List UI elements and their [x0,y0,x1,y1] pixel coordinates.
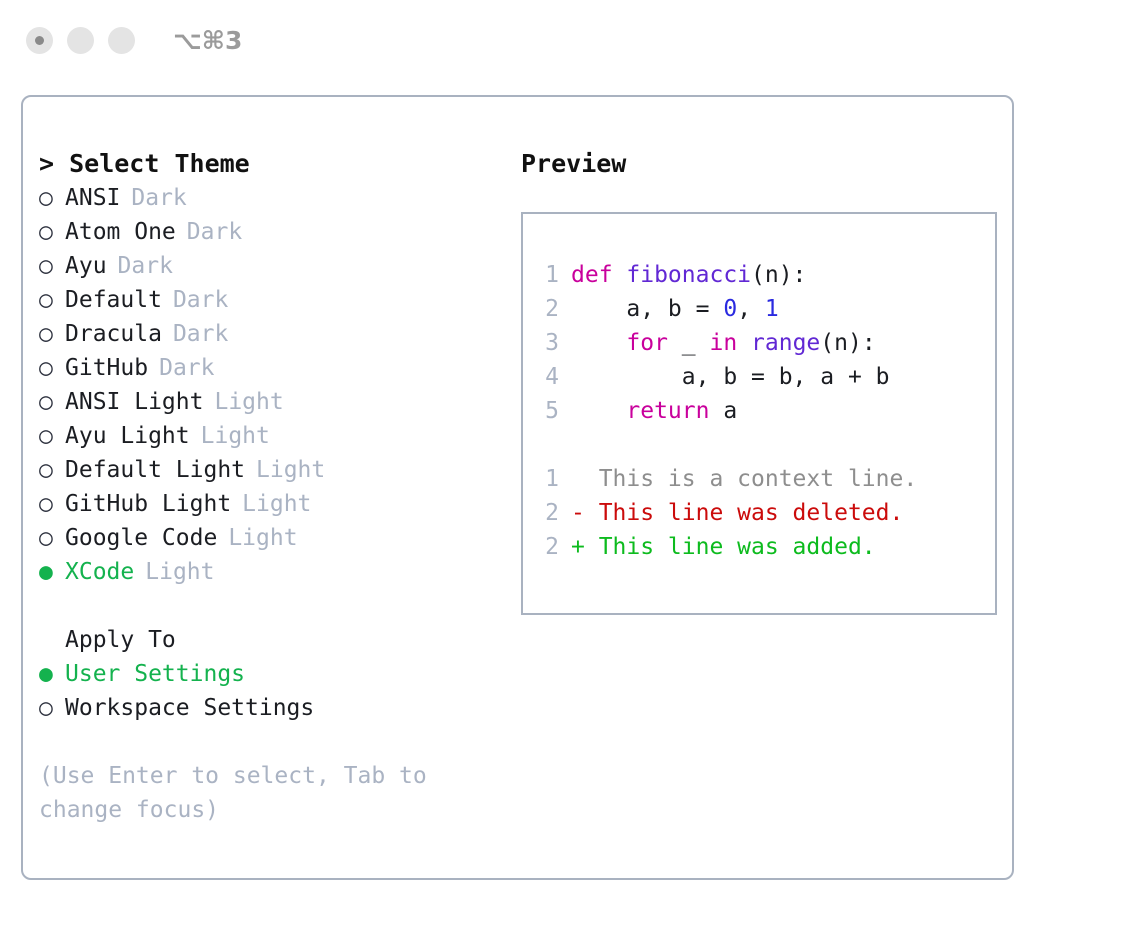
token-kw: for [626,330,668,356]
main-card: > Select Theme ○ANSIDark○Atom OneDark○Ay… [21,95,1014,880]
apply-to-list: ●User Settings○Workspace Settings [39,657,509,725]
token-plain: a, b = b, a + b [571,364,890,390]
code-line: 1def fibonacci(n): [539,258,995,292]
option-label: Workspace Settings [65,691,314,725]
diff-line: 1 This is a context line. [539,462,995,496]
theme-option-10[interactable]: ○Google CodeLight [39,521,509,555]
theme-option-4[interactable]: ○DraculaDark [39,317,509,351]
radio-selected-icon: ● [39,555,65,589]
theme-option-5[interactable]: ○GitHubDark [39,351,509,385]
option-label: Dracula [65,317,162,351]
code-text: def fibonacci(n): [571,258,806,292]
option-tag: Light [256,453,325,487]
code-text: for _ in range(n): [571,326,876,360]
token-plain: a [709,398,737,424]
option-label: Default Light [65,453,245,487]
option-label: ANSI [65,181,120,215]
token-fn: fibonacci [626,262,751,288]
radio-unselected-icon: ○ [39,487,65,521]
traffic-lights [26,27,135,54]
apply-option-0[interactable]: ●User Settings [39,657,509,691]
diff-text-ctx: This is a context line. [571,462,917,496]
diff-text-del: - This line was deleted. [571,496,903,530]
window-minimize-icon[interactable] [67,27,94,54]
radio-unselected-icon: ○ [39,351,65,385]
theme-option-11[interactable]: ●XCodeLight [39,555,509,589]
theme-list: ○ANSIDark○Atom OneDark○AyuDark○DefaultDa… [39,181,509,589]
token-plain: (n): [751,262,806,288]
token-num: 0 [723,296,737,322]
spacer [539,428,995,462]
line-number: 4 [539,360,571,394]
line-number: 2 [539,530,571,564]
window-close-icon[interactable] [26,27,53,54]
option-label: Ayu [65,249,107,283]
preview-pane: Preview 1def fibonacci(n):2 a, b = 0, 13… [509,147,1012,878]
apply-to-heading: Apply To [39,623,509,657]
option-label: User Settings [65,657,245,691]
option-tag: Dark [187,215,242,249]
option-label: GitHub Light [65,487,231,521]
option-label: Ayu Light [65,419,190,453]
code-sample: 1def fibonacci(n):2 a, b = 0, 13 for _ i… [539,258,995,428]
diff-sample: 1 This is a context line.2- This line wa… [539,462,995,564]
radio-unselected-icon: ○ [39,283,65,317]
token-plain: , [737,296,765,322]
window-maximize-icon[interactable] [108,27,135,54]
option-label: Default [65,283,162,317]
app-window: ⌥⌘3 > Select Theme ○ANSIDark○Atom OneDar… [0,0,1140,934]
option-label: XCode [65,555,134,589]
radio-unselected-icon: ○ [39,691,65,725]
radio-unselected-icon: ○ [39,419,65,453]
line-number: 5 [539,394,571,428]
titlebar: ⌥⌘3 [0,0,1140,80]
option-label: GitHub [65,351,148,385]
radio-unselected-icon: ○ [39,249,65,283]
line-number: 1 [539,462,571,496]
line-number: 2 [539,496,571,530]
token-plain [737,330,751,356]
diff-line: 2+ This line was added. [539,530,995,564]
token-kw: in [709,330,737,356]
code-text: return a [571,394,737,428]
token-plain [571,330,626,356]
code-line: 5 return a [539,394,995,428]
token-plain: (n): [820,330,875,356]
code-line: 2 a, b = 0, 1 [539,292,995,326]
spacer [39,589,509,623]
line-number: 2 [539,292,571,326]
theme-option-6[interactable]: ○ANSI LightLight [39,385,509,419]
line-number: 3 [539,326,571,360]
radio-unselected-icon: ○ [39,181,65,215]
line-number: 1 [539,258,571,292]
theme-option-0[interactable]: ○ANSIDark [39,181,509,215]
theme-option-1[interactable]: ○Atom OneDark [39,215,509,249]
token-kw: return [626,398,709,424]
theme-option-3[interactable]: ○DefaultDark [39,283,509,317]
option-tag: Dark [159,351,214,385]
code-text: a, b = b, a + b [571,360,890,394]
radio-unselected-icon: ○ [39,215,65,249]
option-tag: Light [242,487,311,521]
theme-selection-pane: > Select Theme ○ANSIDark○Atom OneDark○Ay… [39,147,509,878]
option-tag: Dark [173,283,228,317]
option-tag: Dark [118,249,173,283]
radio-unselected-icon: ○ [39,453,65,487]
preview-box: 1def fibonacci(n):2 a, b = 0, 13 for _ i… [521,212,997,615]
select-theme-heading: > Select Theme [39,147,509,181]
diff-text-add: + This line was added. [571,530,876,564]
option-tag: Dark [173,317,228,351]
diff-line: 2- This line was deleted. [539,496,995,530]
apply-option-1[interactable]: ○Workspace Settings [39,691,509,725]
radio-unselected-icon: ○ [39,317,65,351]
theme-option-7[interactable]: ○Ayu LightLight [39,419,509,453]
option-tag: Light [201,419,270,453]
option-tag: Light [214,385,283,419]
token-plain: a, b = [571,296,723,322]
option-tag: Dark [131,181,186,215]
token-plain: _ [668,330,710,356]
preview-heading: Preview [521,147,1012,181]
option-label: Atom One [65,215,176,249]
code-text: a, b = 0, 1 [571,292,779,326]
option-label: ANSI Light [65,385,203,419]
token-fn: range [751,330,820,356]
token-kw: def [571,262,626,288]
token-plain [571,398,626,424]
keyboard-shortcut-label: ⌥⌘3 [173,26,242,55]
code-line: 3 for _ in range(n): [539,326,995,360]
theme-option-2[interactable]: ○AyuDark [39,249,509,283]
code-line: 4 a, b = b, a + b [539,360,995,394]
radio-unselected-icon: ○ [39,521,65,555]
theme-option-9[interactable]: ○GitHub LightLight [39,487,509,521]
active-dot-icon [35,36,44,45]
option-tag: Light [145,555,214,589]
hint-text: (Use Enter to select, Tab to change focu… [39,759,459,827]
token-num: 1 [765,296,779,322]
theme-option-8[interactable]: ○Default LightLight [39,453,509,487]
option-tag: Light [228,521,297,555]
radio-unselected-icon: ○ [39,385,65,419]
option-label: Google Code [65,521,217,555]
radio-selected-icon: ● [39,657,65,691]
